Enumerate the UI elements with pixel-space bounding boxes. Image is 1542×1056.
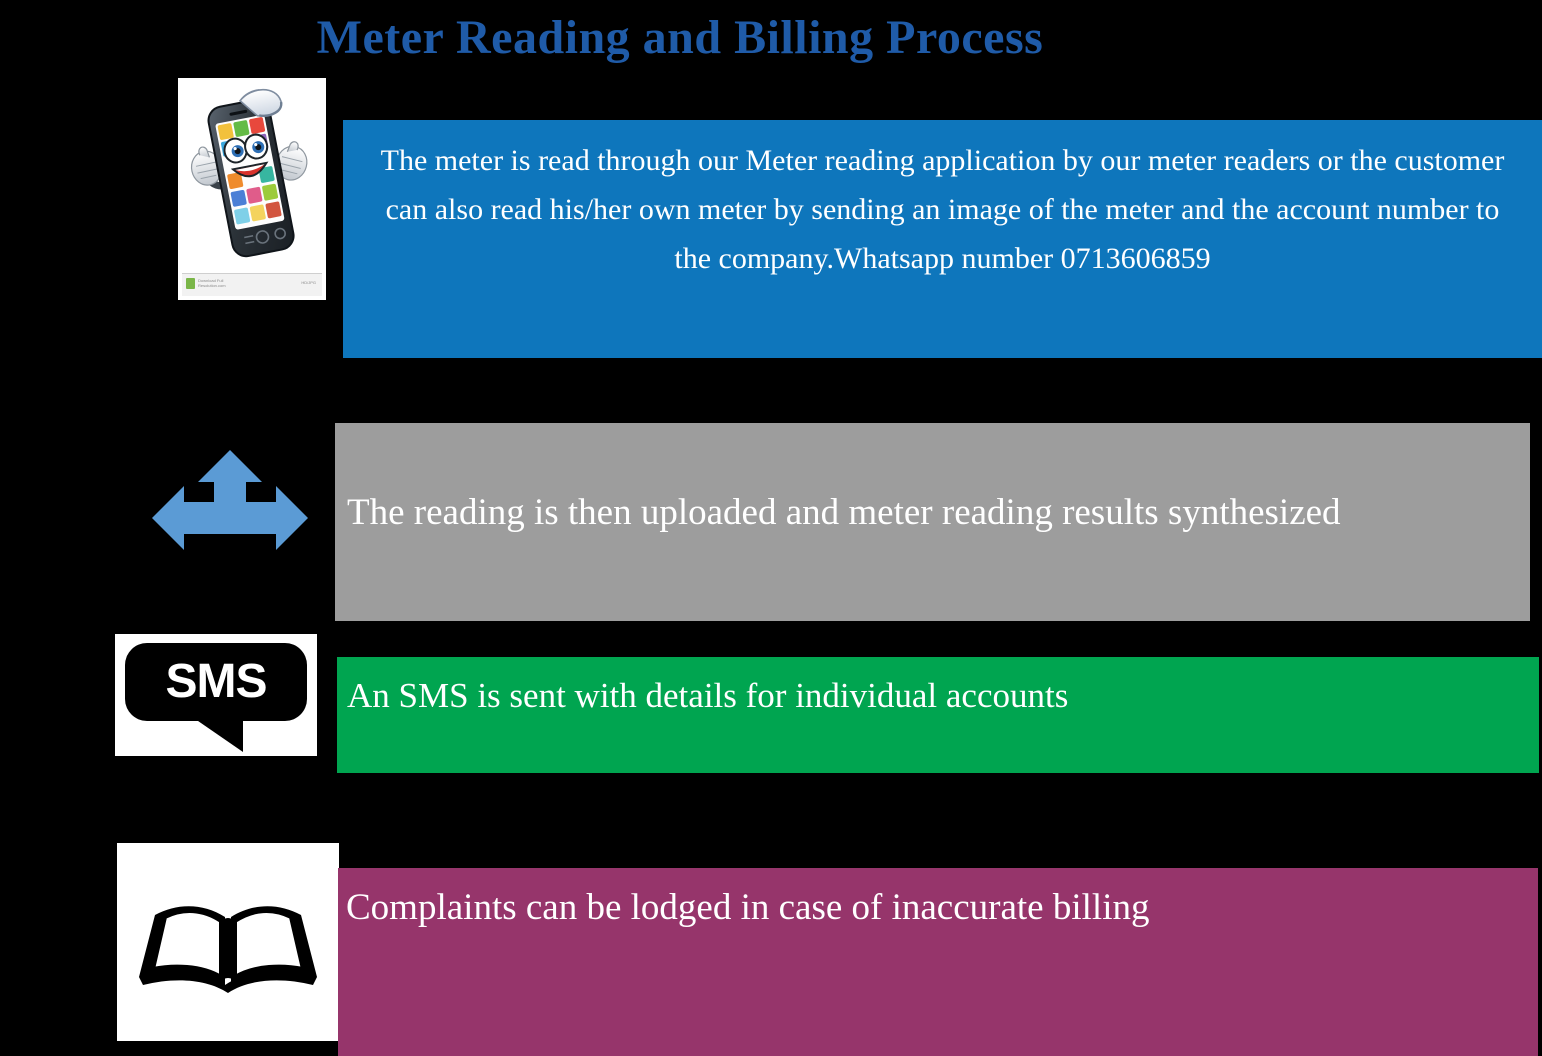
step-complaints-banner: Complaints can be lodged in case of inac…: [338, 868, 1538, 1056]
open-book-icon: [117, 843, 339, 1041]
footer-badge-icon: [186, 278, 195, 289]
step-meter-reading-banner: The meter is read through our Meter read…: [343, 120, 1542, 358]
footer-right-text: HD/JPG: [301, 280, 316, 285]
sms-icon-label: SMS: [125, 643, 307, 721]
three-way-arrow-graphic: [150, 448, 310, 560]
page-title: Meter Reading and Billing Process: [0, 8, 1360, 68]
smartphone-mascot-graphic: [178, 78, 326, 278]
footer-left-text: Download Full Resolution.com: [198, 278, 226, 288]
sms-bubble-icon: SMS: [115, 634, 317, 756]
step-upload-synthesize-banner: The reading is then uploaded and meter r…: [335, 423, 1530, 621]
slide-canvas: Meter Reading and Billing Process: [0, 0, 1542, 1056]
footer-left-line2: Resolution.com: [198, 283, 226, 288]
image-source-footer: Download Full Resolution.com HD/JPG: [182, 273, 322, 296]
open-book-graphic: [137, 891, 319, 995]
three-way-arrow-icon: [150, 448, 310, 560]
smartphone-mascot-icon: Download Full Resolution.com HD/JPG: [178, 78, 326, 300]
step-sms-notification-banner: An SMS is sent with details for individu…: [337, 657, 1539, 773]
